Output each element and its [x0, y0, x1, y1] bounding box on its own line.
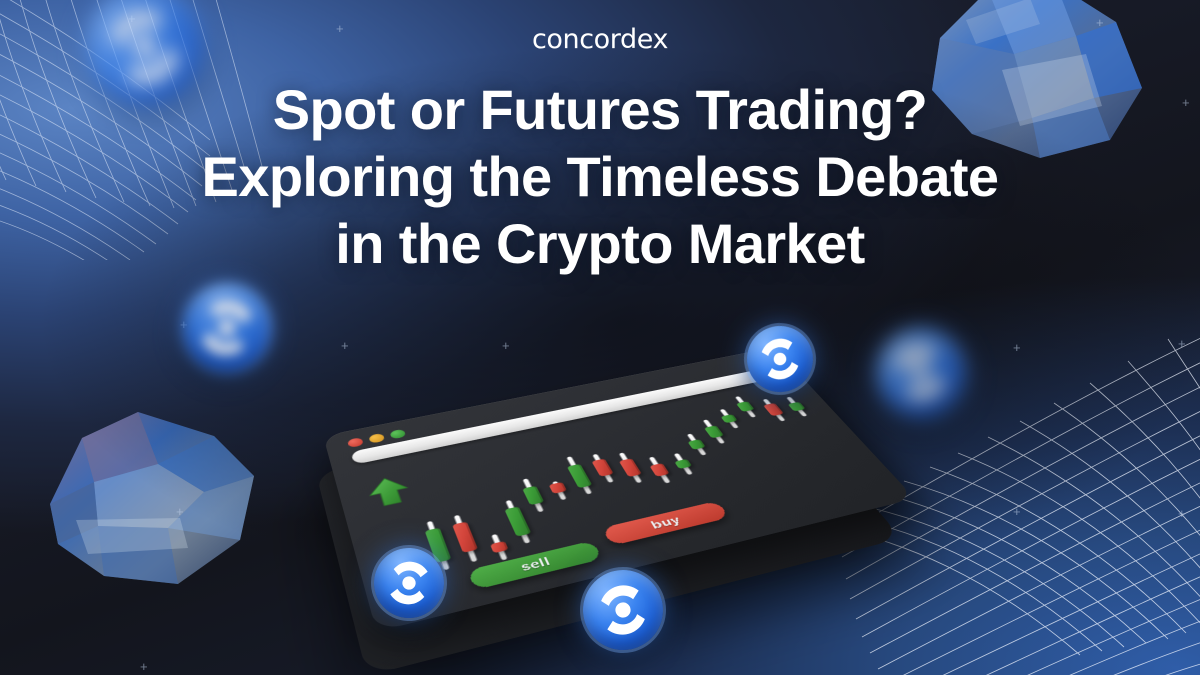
candlestick-wick — [523, 478, 544, 512]
candlestick-wick — [453, 515, 477, 562]
candlestick-body — [567, 464, 592, 488]
traffic-light-green-dot[interactable] — [389, 429, 406, 440]
candlestick-wick — [567, 456, 593, 494]
sparkle-plus-icon: + — [176, 505, 184, 518]
concordex-coin-chart-bottom-center[interactable] — [579, 566, 667, 654]
candlestick-wick — [619, 453, 642, 483]
traffic-light-red-dot[interactable] — [347, 437, 364, 448]
headline-line-2: Exploring the Timeless Debate — [0, 143, 1200, 210]
candlestick-body — [490, 541, 508, 553]
page-title: Spot or Futures Trading? Exploring the T… — [0, 76, 1200, 278]
candlestick-body — [452, 522, 478, 553]
sparkle-plus-icon: + — [1013, 341, 1021, 354]
sparkle-plus-icon: + — [1178, 507, 1186, 520]
candlestick-3 — [450, 448, 514, 566]
candlestick-wick — [505, 500, 530, 544]
hero-banner: + + + + + + + + + + + + + + — [0, 0, 1200, 675]
candlestick-body — [649, 463, 669, 477]
traffic-light-yellow-dot[interactable] — [368, 433, 385, 444]
candlestick-body — [703, 425, 723, 438]
sparkle-plus-icon: + — [1013, 505, 1021, 518]
candlestick-body — [687, 439, 705, 450]
candlestick-body — [504, 506, 531, 536]
candlestick-body — [549, 482, 567, 494]
candlestick-body — [721, 414, 738, 423]
candlestick-body — [523, 486, 545, 506]
candlestick-body — [674, 459, 692, 469]
concordex-coin-chart-top-right[interactable] — [743, 322, 818, 397]
candlestick-body — [591, 458, 613, 476]
trading-illustration: sell buy — [300, 290, 920, 675]
candlestick-body — [763, 403, 784, 416]
candlestick-wick — [553, 481, 567, 500]
candlestick-wick — [491, 534, 507, 560]
headline-line-3: in the Crypto Market — [0, 210, 1200, 277]
brand-logo[interactable]: concordex — [0, 24, 1200, 55]
sparkle-plus-icon: + — [1178, 337, 1186, 350]
sparkle-plus-icon: + — [140, 660, 148, 673]
candlestick-body — [619, 459, 642, 477]
candlestick-body — [736, 401, 755, 412]
headline-line-1: Spot or Futures Trading? — [0, 76, 1200, 143]
candlestick-wick — [649, 457, 670, 483]
